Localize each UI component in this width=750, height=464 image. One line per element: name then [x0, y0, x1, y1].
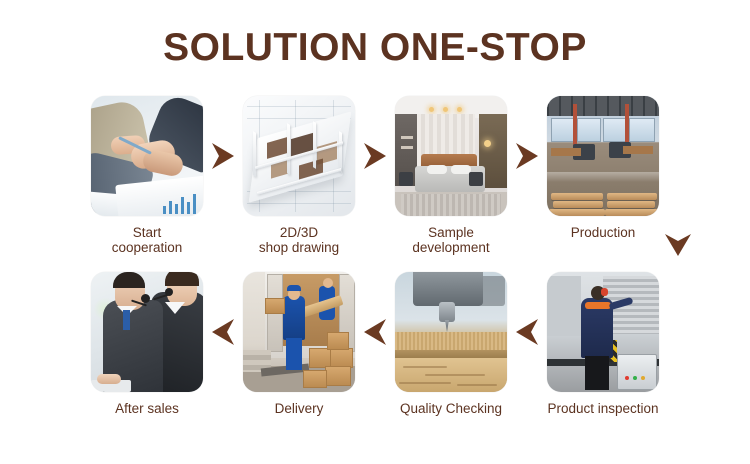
flow-step-image-quality-checking[interactable]	[395, 272, 507, 392]
arrow-down-icon	[664, 232, 692, 258]
flow-step-image-sample-development[interactable]	[395, 96, 507, 216]
flow-step-label: Sample development	[412, 225, 489, 255]
call-center-agents-photo	[91, 272, 203, 392]
arrow-right-icon	[362, 142, 388, 170]
connector-left-2	[355, 272, 395, 392]
flow-step-label: Start cooperation	[112, 225, 183, 255]
flow-step-start-cooperation[interactable]: Start cooperation	[91, 96, 203, 255]
flow-step-production[interactable]: Production	[547, 96, 659, 240]
connector-right-1	[203, 96, 243, 216]
flow-step-image-shop-drawing[interactable]	[243, 96, 355, 216]
connector-right-2	[355, 96, 395, 216]
arrow-left-icon	[514, 318, 540, 346]
flow-step-label: After sales	[115, 401, 179, 416]
flow-step-product-inspection[interactable]: Product inspection	[547, 272, 659, 416]
page-title: SOLUTION ONE-STOP	[0, 28, 750, 69]
flow-row-2: After sales	[0, 272, 750, 437]
flow-step-label: Product inspection	[547, 401, 658, 416]
worker-inspecting-machine-photo	[547, 272, 659, 392]
flow-step-label: 2D/3D shop drawing	[259, 225, 339, 255]
flow-step-label: Delivery	[275, 401, 324, 416]
flow-step-sample-development[interactable]: Sample development	[395, 96, 507, 255]
flow-step-image-production[interactable]	[547, 96, 659, 216]
arrow-right-icon	[514, 142, 540, 170]
3d-floor-plan-blueprint-photo	[243, 96, 355, 216]
flow-step-image-product-inspection[interactable]	[547, 272, 659, 392]
flow-step-delivery[interactable]: Delivery	[243, 272, 355, 416]
flow-step-label: Quality Checking	[400, 401, 502, 416]
flow-step-image-delivery[interactable]	[243, 272, 355, 392]
flow-step-quality-checking[interactable]: Quality Checking	[395, 272, 507, 416]
arrow-left-icon	[362, 318, 388, 346]
cnc-machine-particle-board-photo	[395, 272, 507, 392]
arrow-left-icon	[210, 318, 236, 346]
connector-left-1	[203, 272, 243, 392]
flow-step-image-after-sales[interactable]	[91, 272, 203, 392]
connector-down	[658, 228, 698, 262]
flow-step-label: Production	[571, 225, 636, 240]
van-loading-delivery-photo	[243, 272, 355, 392]
business-handshake-photo	[91, 96, 203, 216]
flow-step-after-sales[interactable]: After sales	[91, 272, 203, 416]
flow-step-shop-drawing[interactable]: 2D/3D shop drawing	[243, 96, 355, 255]
flow-step-image-start-cooperation[interactable]	[91, 96, 203, 216]
connector-right-3	[507, 96, 547, 216]
furniture-factory-floor-photo	[547, 96, 659, 216]
connector-left-3	[507, 272, 547, 392]
flow-row-1: Start cooperation	[0, 96, 750, 261]
bedroom-interior-photo	[395, 96, 507, 216]
arrow-right-icon	[210, 142, 236, 170]
